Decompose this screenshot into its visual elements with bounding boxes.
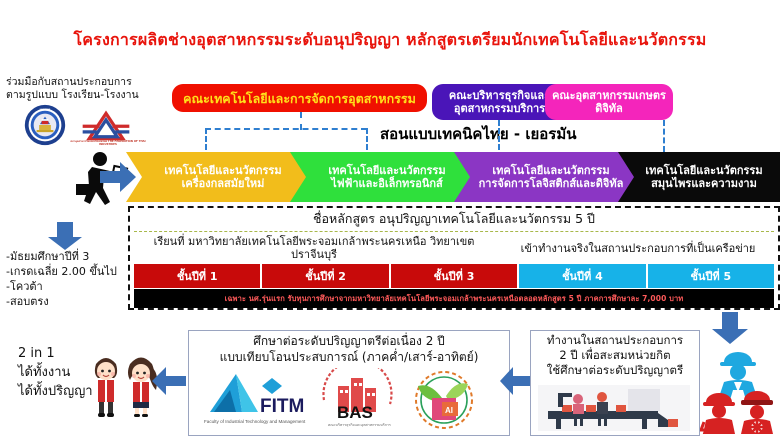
career-people-icons (700, 348, 776, 434)
faculty-pill-fitm[interactable]: คณะเทคโนโลยีและการจัดการอุตสาหกรรม (172, 84, 427, 112)
scholarship-note-bar: เฉพาะ นศ.รุ่นแรก รับทุนการศึกษาจากมหาวิท… (134, 289, 774, 308)
qualification-item-0: -มัธยมศึกษาปีที่ 3 (6, 249, 124, 264)
track-chevron-0-label: เทคโนโลยีและนวัตกรรมเครื่องกลสมัยใหม่ (164, 164, 281, 190)
panel-divider (134, 231, 774, 232)
faculty-logos-row: FITM Faculty of Industrial Technology an… (196, 368, 502, 430)
connector-vertical-5 (663, 120, 665, 152)
course-name-label: ชื่อหลักสูตร อนุปริญญาเทคโนโลยีและนวัตกร… (128, 208, 780, 230)
fti-logo-caption: สภาอุตสาหกรรมแห่งประเทศไทย THE FEDERATIO… (70, 140, 146, 147)
faculty-pill-agri-label: คณะอุตสาหกรรมเกษตรดิจิทัล (551, 89, 667, 115)
logo-bas-icon: BAS คณะบริหารธุรกิจและอุตสาหกรรมบริการ (323, 368, 391, 428)
arrow-left-to-outcome-icon (152, 367, 186, 395)
work-placement-label: เข้าทำงานจริงในสถานประกอบการที่เป็นเครือ… (500, 234, 776, 262)
factory-illustration-icon (538, 385, 690, 431)
faculty-pill-bas-label: คณะบริหารธุรกิจและอุตสาหกรรมบริการ (438, 89, 561, 115)
infographic-root: โครงการผลิตช่างอุตสาหกรรมระดับอนุปริญญา … (0, 0, 780, 439)
work-experience-text: ทำงานในสถานประกอบการ 2 ปี เพื่อสะสมหน่วย… (532, 333, 698, 378)
track-chevron-2[interactable]: เทคโนโลยีและนวัตกรรมการจัดการโลจิสติกส์แ… (454, 152, 640, 202)
electrician-red-icon (701, 393, 735, 434)
arrow-right-to-tracks-icon (100, 162, 136, 192)
bachelor-line-2: แบบเทียบโอนประสบการณ์ (ภาคค่ำ/เสาร์-อาทิ… (190, 349, 508, 365)
year-cell-3[interactable]: ชั้นปีที่ 3 (391, 264, 519, 288)
faculty-pill-fitm-label: คณะเทคโนโลยีและการจัดการอุตสาหกรรม (183, 92, 416, 105)
logo-agri-icon: AI (416, 372, 472, 428)
qualification-item-3: -สอบตรง (6, 294, 124, 309)
bachelor-continuation-text: ศึกษาต่อระดับปริญญาตรีต่อเนื่อง 2 ปี แบบ… (190, 333, 508, 365)
track-chevron-0[interactable]: เทคโนโลยีและนวัตกรรมเครื่องกลสมัยใหม่ (126, 152, 312, 202)
connector-vertical-2 (205, 128, 207, 150)
teaching-style-label: สอนแบบเทคนิคไทย - เยอรมัน (380, 122, 576, 146)
track-chevron-3[interactable]: เทคโนโลยีและนวัตกรรมสมุนไพรและความงาม (618, 152, 780, 202)
study-location-label: เรียนที่ มหาวิทยาลัยเทคโนโลยีพระจอมเกล้า… (134, 234, 494, 262)
cooperation-text: ร่วมมือกับสถานประกอบการ ตามรูปแบบ โรงเรี… (6, 76, 171, 102)
qualifications-list: -มัธยมศึกษาปีที่ 3 -เกรดเฉลี่ย 2.00 ขึ้น… (6, 249, 124, 309)
bachelor-line-1: ศึกษาต่อระดับปริญญาตรีต่อเนื่อง 2 ปี (190, 333, 508, 349)
svg-text:AI: AI (445, 406, 453, 415)
svg-text:คณะบริหารธุรกิจและอุตสาหกรรมบร: คณะบริหารธุรกิจและอุตสาหกรรมบริการ (328, 423, 391, 428)
cooperation-line-2: ตามรูปแบบ โรงเรียน-โรงงาน (6, 89, 171, 102)
university-seal-icon: KMUTNB (24, 104, 66, 146)
arrow-down-to-qualifications-icon (48, 222, 82, 250)
svg-text:FITM: FITM (260, 396, 304, 417)
arrow-down-to-careers-icon (712, 312, 748, 344)
year-cell-1[interactable]: ชั้นปีที่ 1 (134, 264, 262, 288)
qualification-item-1: -เกรดเฉลี่ย 2.00 ขึ้นไป (6, 264, 124, 279)
logo-fitm-icon: FITM Faculty of Industrial Technology an… (204, 374, 306, 424)
cooperation-line-1: ร่วมมือกับสถานประกอบการ (6, 76, 171, 89)
captain-red-icon (741, 391, 773, 434)
partner-logos: KMUTNB สภาอุตสาหกรรมแห่งประเทศไทย THE FE… (18, 104, 148, 148)
svg-text:Faculty of Industrial Technolo: Faculty of Industrial Technology and Man… (204, 419, 306, 424)
connector-vertical-3 (366, 128, 368, 150)
faculty-pill-agri[interactable]: คณะอุตสาหกรรมเกษตรดิจิทัล (545, 84, 673, 120)
page-title: โครงการผลิตช่างอุตสาหกรรมระดับอนุปริญญา … (0, 28, 780, 53)
connector-horizontal-1 (205, 128, 367, 130)
svg-text:BAS: BAS (337, 403, 373, 422)
track-chevron-3-label: เทคโนโลยีและนวัตกรรมสมุนไพรและความงาม (645, 164, 762, 190)
track-chevron-1[interactable]: เทคโนโลยีและนวัตกรรมไฟฟ้าและอิเล็กทรอนิก… (290, 152, 476, 202)
track-chevron-1-label: เทคโนโลยีและนวัตกรรมไฟฟ้าและอิเล็กทรอนิก… (328, 164, 445, 190)
qualification-item-2: -โควต้า (6, 279, 124, 294)
year-cell-5[interactable]: ชั้นปีที่ 5 (648, 264, 774, 288)
svg-text:KMUTNB: KMUTNB (40, 108, 51, 112)
connector-vertical-4 (498, 120, 500, 150)
year-cell-4[interactable]: ชั้นปีที่ 4 (519, 264, 647, 288)
track-chevron-2-label: เทคโนโลยีและนวัตกรรมการจัดการโลจิสติกส์แ… (479, 164, 624, 190)
work-line-3: ใช้ศึกษาต่อระดับปริญญาตรี (532, 363, 698, 378)
work-line-2: 2 ปี เพื่อสะสมหน่วยกิต (532, 348, 698, 363)
work-line-1: ทำงานในสถานประกอบการ (532, 333, 698, 348)
arrow-left-to-bachelor-icon (500, 367, 532, 395)
year-cell-2[interactable]: ชั้นปีที่ 2 (262, 264, 390, 288)
year-bar: ชั้นปีที่ 1 ชั้นปีที่ 2 ชั้นปีที่ 3 ชั้น… (134, 264, 774, 288)
